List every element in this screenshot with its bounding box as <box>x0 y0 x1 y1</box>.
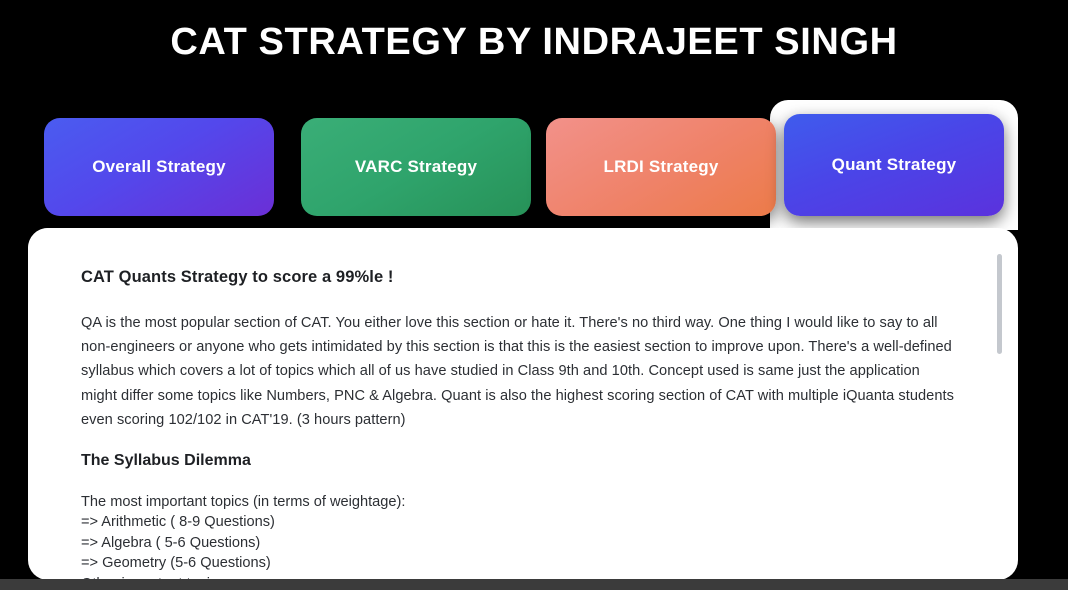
tab-strip: Overall Strategy VARC Strategy LRDI Stra… <box>0 100 1068 230</box>
tab-varc-strategy[interactable]: VARC Strategy <box>301 118 531 216</box>
content-paragraph: QA is the most popular section of CAT. Y… <box>81 311 958 432</box>
bottom-chrome-bar <box>0 579 1068 590</box>
content-subheading: The Syllabus Dilemma <box>81 452 958 470</box>
topics-list-lead: The most important topics (in terms of w… <box>81 492 958 512</box>
content-heading: CAT Quants Strategy to score a 99%le ! <box>81 268 958 287</box>
tab-overall-strategy[interactable]: Overall Strategy <box>44 118 274 216</box>
tab-quant-strategy[interactable]: Quant Strategy <box>784 114 1004 216</box>
content-scrollbar[interactable] <box>997 250 1002 568</box>
app-root: CAT STRATEGY BY INDRAJEET SINGH Overall … <box>0 0 1068 590</box>
scrollbar-thumb[interactable] <box>997 254 1002 354</box>
list-item: => Arithmetic ( 8-9 Questions) <box>81 512 958 532</box>
list-item: => Algebra ( 5-6 Questions) <box>81 533 958 553</box>
tab-lrdi-strategy[interactable]: LRDI Strategy <box>546 118 776 216</box>
content-panel: CAT Quants Strategy to score a 99%le ! Q… <box>28 228 1018 580</box>
page-title: CAT STRATEGY BY INDRAJEET SINGH <box>0 18 1068 66</box>
content-body: CAT Quants Strategy to score a 99%le ! Q… <box>28 228 1018 580</box>
list-item: => Geometry (5-6 Questions) <box>81 553 958 573</box>
